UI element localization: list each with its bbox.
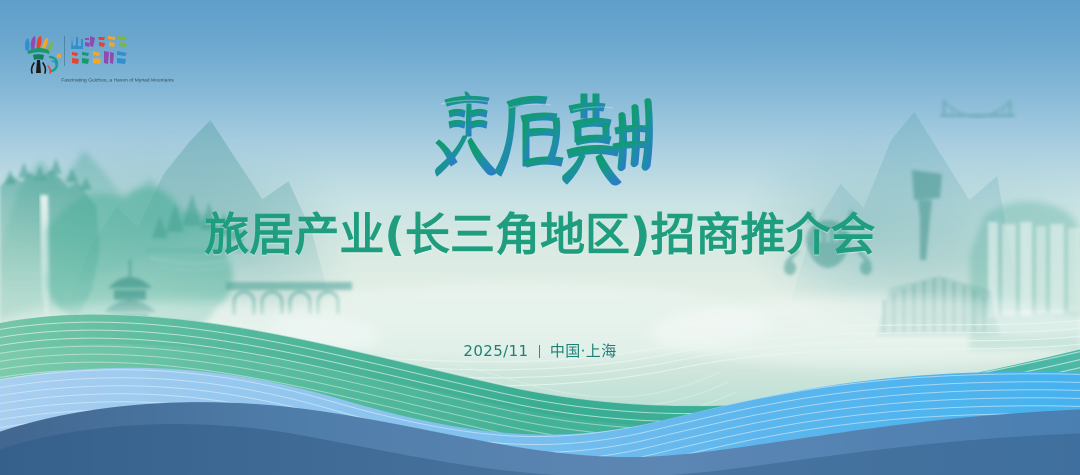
logo-divider [64,36,65,66]
logo-brand-calligraphy [70,33,132,67]
bottom-wave-graphics [0,295,1080,475]
event-subtitle: 旅居产业(长三角地区)招商推介会 [0,209,1080,261]
event-date: 2025/11 [463,342,528,360]
event-location: 中国·上海 [550,342,617,360]
main-title-strokes [427,84,653,200]
title-char-zhou [613,99,652,171]
date-location-bar: 2025/11 中国·上海 [0,341,1080,361]
title-char-shuang [436,92,498,176]
guizhou-tourism-logo-mark [18,33,62,75]
title-char-ju [496,96,563,176]
event-banner: Fascinating Guizhou, a Haven of Myriad M… [0,0,1080,475]
guizhou-tourism-logo[interactable]: Fascinating Guizhou, a Haven of Myriad M… [18,33,146,83]
main-title-calligraphy [0,84,1080,200]
date-location-separator [539,345,540,358]
